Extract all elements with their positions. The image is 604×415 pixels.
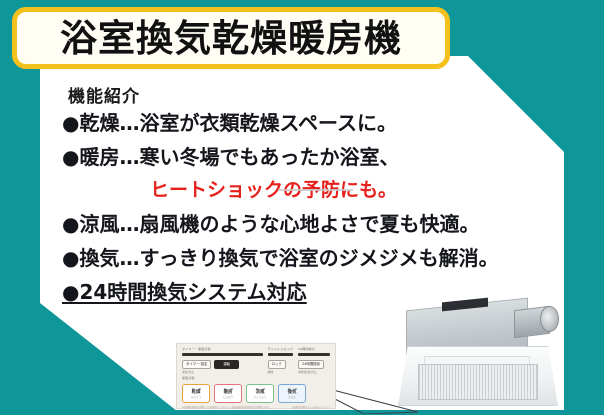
heat-shock-note: ヒートショックの予防にも。 (150, 175, 397, 202)
heat-shock-note-text: ヒートショックの予防にも。 (150, 179, 397, 201)
control-panel-button-drying-sub: かんそう (191, 397, 201, 400)
control-panel-footnote-left: ※衣類乾燥時は浴室ドアを閉めてください。乾燥運転中は換気扇が作動します。 (182, 406, 271, 409)
control-panel-chip-lock[interactable]: ロック (268, 360, 286, 369)
control-panel-24h-caption: 24時間換気 (298, 348, 330, 351)
control-panel-button-heating[interactable]: 暖房 だんぼう (214, 384, 242, 403)
control-panel-mode-buttons: 乾燥 かんそう 暖房 だんぼう 涼風 りょうふう 換気 かんき (182, 384, 330, 403)
control-panel-top-row: タイマー・運転切替 タイマー 設定 運転 運転/停止 チャイルドロック ロック … (182, 348, 330, 374)
control-panel-24h-group: 24時間換気 24時間換気 常時強/弱/停止 (298, 348, 330, 374)
control-panel-bar-right (298, 353, 330, 356)
control-panel-button-heating-sub: だんぼう (223, 397, 233, 400)
advertisement-page: 浴室換気乾燥暖房機 機能紹介 ●乾燥…浴室が衣類乾燥スペースに。 ●暖房…寒い冬… (0, 0, 604, 415)
control-panel-button-drying[interactable]: 乾燥 かんそう (182, 384, 210, 403)
control-panel-24h-chips: 24時間換気 (298, 360, 330, 369)
control-panel-bar-mid (268, 353, 294, 356)
control-panel-chip-run[interactable]: 運転 (214, 360, 239, 369)
control-panel-button-ventilation-sub: かんき (288, 397, 296, 400)
unit-louver-grille (418, 364, 538, 400)
control-panel-timer-chips: タイマー 設定 運転 (182, 360, 263, 369)
control-panel-chip-24h[interactable]: 24時間換気 (298, 360, 324, 369)
feature-bullet-heating: ●暖房…寒い冬場でもあったか浴室、 (62, 147, 582, 167)
control-panel-mini-left: 運転/停止 (182, 371, 263, 374)
feature-bullet-cool-breeze: ●涼風…扇風機のような心地よさで夏も快適。 (62, 214, 582, 234)
control-panel-footnotes: ※衣類乾燥時は浴室ドアを閉めてください。乾燥運転中は換気扇が作動します。 取扱説… (182, 406, 330, 409)
control-panel-lock-group: チャイルドロック ロック 解除 (268, 348, 294, 374)
control-panel-bar-left (182, 353, 263, 356)
section-subheading: 機能紹介 (68, 82, 582, 107)
control-panel-mode-caption: 運転切替 (182, 377, 330, 380)
unit-duct-opening (540, 306, 559, 332)
control-panel-button-cool-breeze[interactable]: 涼風 りょうふう (246, 384, 274, 403)
control-panel-lock-chips: ロック (268, 360, 294, 369)
control-panel-footnote-right: 取扱説明書をよくお読みください (292, 406, 330, 409)
control-panel-photo: タイマー・運転切替 タイマー 設定 運転 運転/停止 チャイルドロック ロック … (176, 343, 336, 409)
control-panel-timer-group: タイマー・運転切替 タイマー 設定 運転 運転/停止 (182, 348, 263, 374)
control-panel-button-cool-breeze-sub: りょうふう (254, 397, 267, 400)
control-panel-timer-caption: タイマー・運転切替 (182, 348, 263, 351)
feature-bullet-drying: ●乾燥…浴室が衣類乾燥スペースに。 (62, 113, 582, 133)
feature-list-section: 機能紹介 ●乾燥…浴室が衣類乾燥スペースに。 ●暖房…寒い冬場でもあったか浴室、… (62, 82, 582, 316)
product-unit-photo (396, 298, 566, 415)
control-panel-button-ventilation[interactable]: 換気 かんき (278, 384, 306, 403)
title-banner: 浴室換気乾燥暖房機 (12, 7, 450, 69)
control-panel-mini-right: 常時強/弱/停止 (298, 371, 330, 374)
control-panel-mini-mid: 解除 (268, 371, 294, 374)
control-panel-chip-timer[interactable]: タイマー 設定 (182, 360, 211, 369)
control-panel-lock-caption: チャイルドロック (268, 348, 294, 351)
page-title: 浴室換気乾燥暖房機 (60, 20, 402, 57)
feature-bullet-ventilation: ●換気…すっきり換気で浴室のジメジメも解消。 (62, 248, 582, 268)
strikethrough-line (278, 189, 352, 191)
